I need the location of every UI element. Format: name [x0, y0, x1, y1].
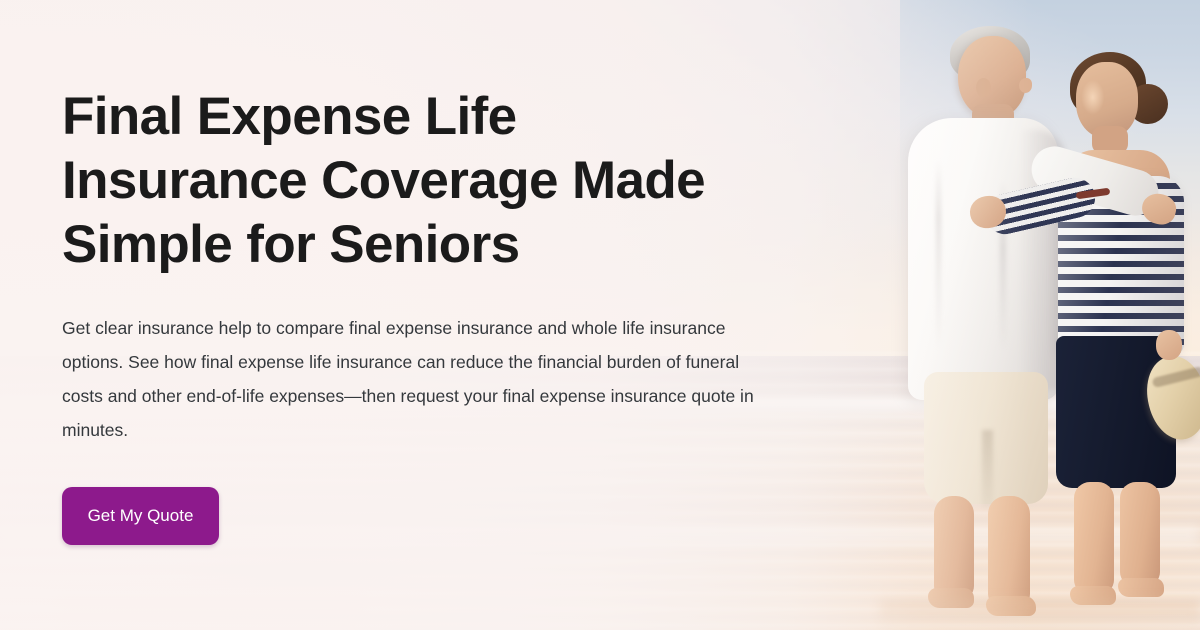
hero-description: Get clear insurance help to compare fina…	[62, 311, 782, 447]
hero-banner: Final Expense Life Insurance Coverage Ma…	[0, 0, 1200, 630]
get-my-quote-button[interactable]: Get My Quote	[62, 487, 219, 545]
hero-content: Final Expense Life Insurance Coverage Ma…	[62, 0, 782, 630]
page-title: Final Expense Life Insurance Coverage Ma…	[62, 85, 772, 277]
